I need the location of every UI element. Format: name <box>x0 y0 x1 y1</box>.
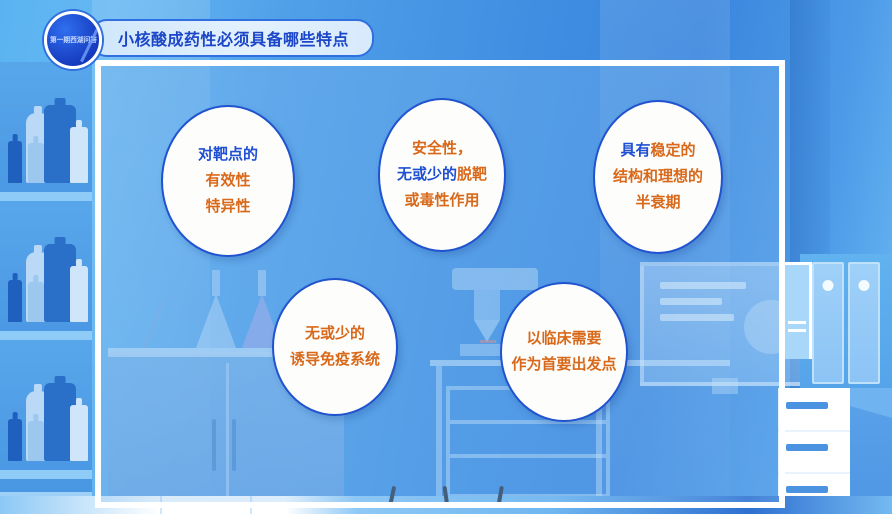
bubble-line: 有效性 <box>205 168 250 194</box>
circular-brand-badge-icon[interactable]: 第一期西湖问答 <box>44 11 102 69</box>
document-tray <box>782 262 812 359</box>
page-title: 小核酸成药性必须具备哪些特点 <box>118 26 349 50</box>
bubble-line: 结构和理想的 <box>613 164 703 190</box>
bubble-line-orange-part: 稳定的 <box>651 142 696 159</box>
bubble-line: 诱导免疫系统 <box>290 347 380 373</box>
shelf-row <box>0 201 92 340</box>
bubble-line: 以临床需要 <box>526 326 601 352</box>
bubble-line: 半衰期 <box>635 190 680 216</box>
bubble-line: 特异性 <box>205 194 250 220</box>
bottle-icon <box>28 143 44 183</box>
bubble-line: 或毒性作用 <box>404 188 479 214</box>
cabinet-drawer <box>778 388 850 432</box>
bottle-icon <box>28 421 44 461</box>
binder-icon <box>812 262 844 384</box>
bubble-line-mixed: 无或少的脱靶 <box>397 162 487 188</box>
bubble-clinical-need[interactable]: 以临床需要 作为首要出发点 <box>500 282 628 422</box>
shelf-row <box>0 62 92 201</box>
bubble-line: 对靶点的 <box>198 142 258 168</box>
reagent-shelf-unit <box>0 62 92 492</box>
bottle-icon <box>8 280 22 322</box>
bubble-line-orange-part: 脱靶 <box>457 166 487 183</box>
bubble-immune-induction[interactable]: 无或少的 诱导免疫系统 <box>272 278 398 416</box>
bubble-line: 作为首要出发点 <box>511 352 616 378</box>
bottle-icon <box>8 141 22 183</box>
shelf-row <box>0 340 92 479</box>
binder-icon <box>848 262 880 384</box>
bubble-line-mixed: 具有稳定的 <box>620 138 695 164</box>
title-capsule: 小核酸成药性必须具备哪些特点 <box>90 19 374 57</box>
bubble-line: 安全性， <box>412 136 472 162</box>
bottle-icon <box>70 266 88 322</box>
bubble-stable-structure[interactable]: 具有稳定的 结构和理想的 半衰期 <box>593 100 723 254</box>
bottle-icon <box>28 282 44 322</box>
bubble-target-efficacy[interactable]: 对靶点的 有效性 特异性 <box>161 105 295 257</box>
slide-canvas: 对靶点的 有效性 特异性 安全性， 无或少的脱靶 或毒性作用 具有稳定的 结构和… <box>0 0 892 514</box>
bubble-line-blue-part: 无或少的 <box>397 166 457 183</box>
bottle-icon <box>70 127 88 183</box>
bottle-icon <box>8 419 22 461</box>
bottle-icon <box>70 405 88 461</box>
bubble-line: 无或少的 <box>305 321 365 347</box>
bubble-safety[interactable]: 安全性， 无或少的脱靶 或毒性作用 <box>378 98 506 252</box>
cabinet-drawer <box>778 430 850 474</box>
bubble-line-blue-part: 具有 <box>620 142 650 159</box>
